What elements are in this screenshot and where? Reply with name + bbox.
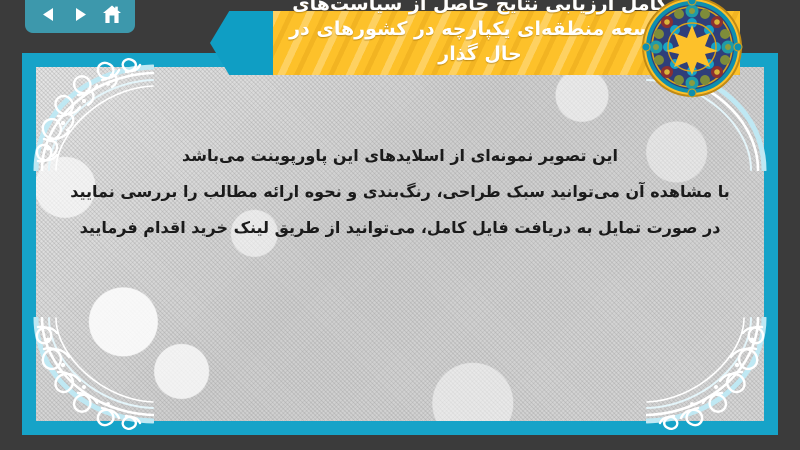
slide-frame: این تصویر نمونه‌ای از اسلایدهای این پاور… <box>22 53 778 435</box>
presentation-viewer: این تصویر نمونه‌ای از اسلایدهای این پاور… <box>0 0 800 450</box>
home-button[interactable] <box>99 2 125 26</box>
decorative-medallion-icon <box>640 0 744 99</box>
title-line-2: توسعه منطقه‌ای یکپارچه در کشورهای در <box>270 17 690 42</box>
slide-title-banner: کامل ارزیابی نتایج حاصل از سیاست‌های توس… <box>210 0 740 89</box>
body-line-3: در صورت تمایل به دریافت فایل کامل، می‌تو… <box>48 210 752 246</box>
page-title: کامل ارزیابی نتایج حاصل از سیاست‌های توس… <box>270 0 690 67</box>
next-slide-button[interactable] <box>67 2 93 26</box>
triangle-left-icon <box>40 6 57 23</box>
title-line-3: حال گذار <box>270 42 690 67</box>
title-line-1: کامل ارزیابی نتایج حاصل از سیاست‌های <box>270 0 690 17</box>
triangle-right-icon <box>72 6 89 23</box>
previous-slide-button[interactable] <box>35 2 61 26</box>
slide-body-text: این تصویر نمونه‌ای از اسلایدهای این پاور… <box>22 138 778 246</box>
body-line-1: این تصویر نمونه‌ای از اسلایدهای این پاور… <box>48 138 752 174</box>
body-line-2: با مشاهده آن می‌توانید سبک طراحی، رنگ‌بن… <box>48 174 752 210</box>
home-icon <box>102 5 122 24</box>
slide-navigation-bar <box>25 0 135 33</box>
